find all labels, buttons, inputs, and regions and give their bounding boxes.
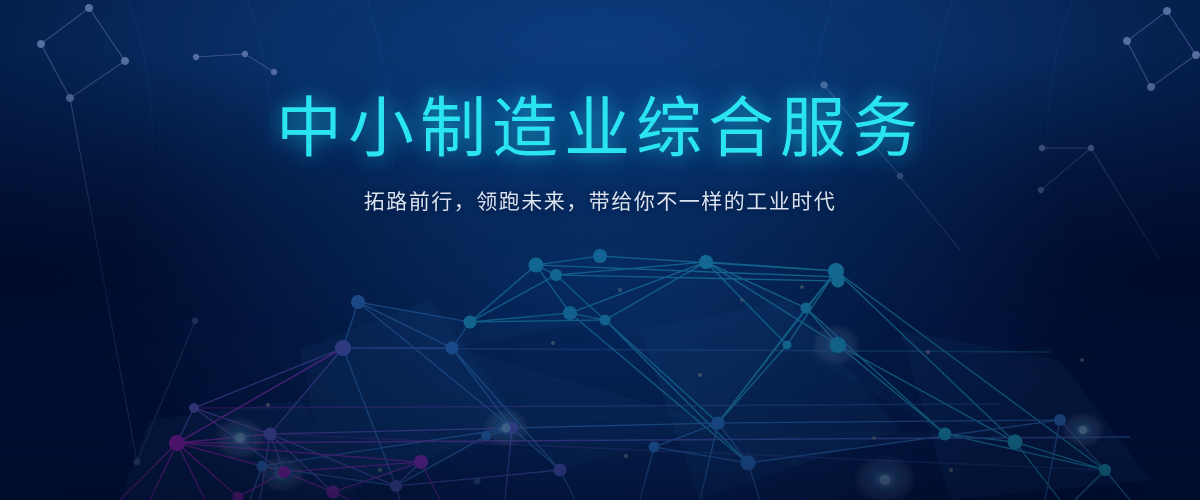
background-vignette — [0, 0, 1200, 500]
hero-banner: 中小制造业综合服务 拓路前行，领跑未来，带给你不一样的工业时代 — [0, 0, 1200, 500]
